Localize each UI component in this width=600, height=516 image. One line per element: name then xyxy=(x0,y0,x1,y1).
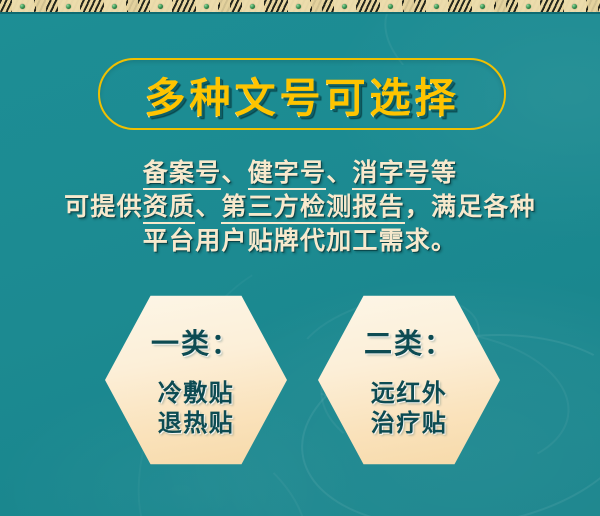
description-text: 平台用户贴牌代加工需求。 xyxy=(143,226,457,255)
category-item: 治疗贴 xyxy=(371,408,448,438)
gem-icon xyxy=(480,4,485,9)
promo-poster: 多种文号可选择 备案号、健字号、消字号等可提供资质、第三方检测报告，满足各种平台… xyxy=(0,0,600,516)
gem-icon xyxy=(342,4,347,9)
description-line: 平台用户贴牌代加工需求。 xyxy=(0,224,600,258)
gem-icon xyxy=(250,4,255,9)
ornamental-border-top xyxy=(0,0,600,14)
description-highlight: 备案号 xyxy=(143,158,222,190)
gem-icon xyxy=(296,4,301,9)
description-text: 、 xyxy=(326,158,352,187)
gem-icon xyxy=(388,4,393,9)
gem-icon xyxy=(20,4,25,9)
category-title: 一类： xyxy=(151,322,241,362)
gem-icon xyxy=(434,4,439,9)
gem-row xyxy=(0,0,600,12)
gem-icon xyxy=(66,4,71,9)
category-card-two: 二类： 远红外 治疗贴 xyxy=(318,294,500,466)
category-title: 二类： xyxy=(364,322,454,362)
description-line: 备案号、健字号、消字号等 xyxy=(0,156,600,190)
gem-icon xyxy=(526,4,531,9)
description-highlight: 健字号 xyxy=(248,158,327,190)
description-text: 、 xyxy=(195,192,221,221)
description-highlight: 消字号 xyxy=(352,158,431,190)
description-text: 可提供 xyxy=(64,192,143,221)
description-highlight: 第三方检测报告 xyxy=(221,192,404,224)
category-item: 远红外 xyxy=(371,378,448,408)
description-highlight: 资质 xyxy=(143,192,195,224)
description-paragraph: 备案号、健字号、消字号等可提供资质、第三方检测报告，满足各种平台用户贴牌代加工需… xyxy=(0,156,600,258)
title-frame: 多种文号可选择 xyxy=(98,58,506,130)
gem-icon xyxy=(158,4,163,9)
gem-icon xyxy=(112,4,117,9)
category-item: 冷敷贴 xyxy=(158,378,235,408)
gem-icon xyxy=(572,4,577,9)
description-text: 等 xyxy=(431,158,457,187)
category-card-one: 一类： 冷敷贴 退热贴 xyxy=(105,294,287,466)
gem-icon xyxy=(204,4,209,9)
page-title: 多种文号可选择 xyxy=(145,64,460,124)
description-text: 、 xyxy=(221,158,247,187)
description-text: ，满足各种 xyxy=(405,192,536,221)
description-line: 可提供资质、第三方检测报告，满足各种 xyxy=(0,190,600,224)
category-item: 退热贴 xyxy=(158,408,235,438)
